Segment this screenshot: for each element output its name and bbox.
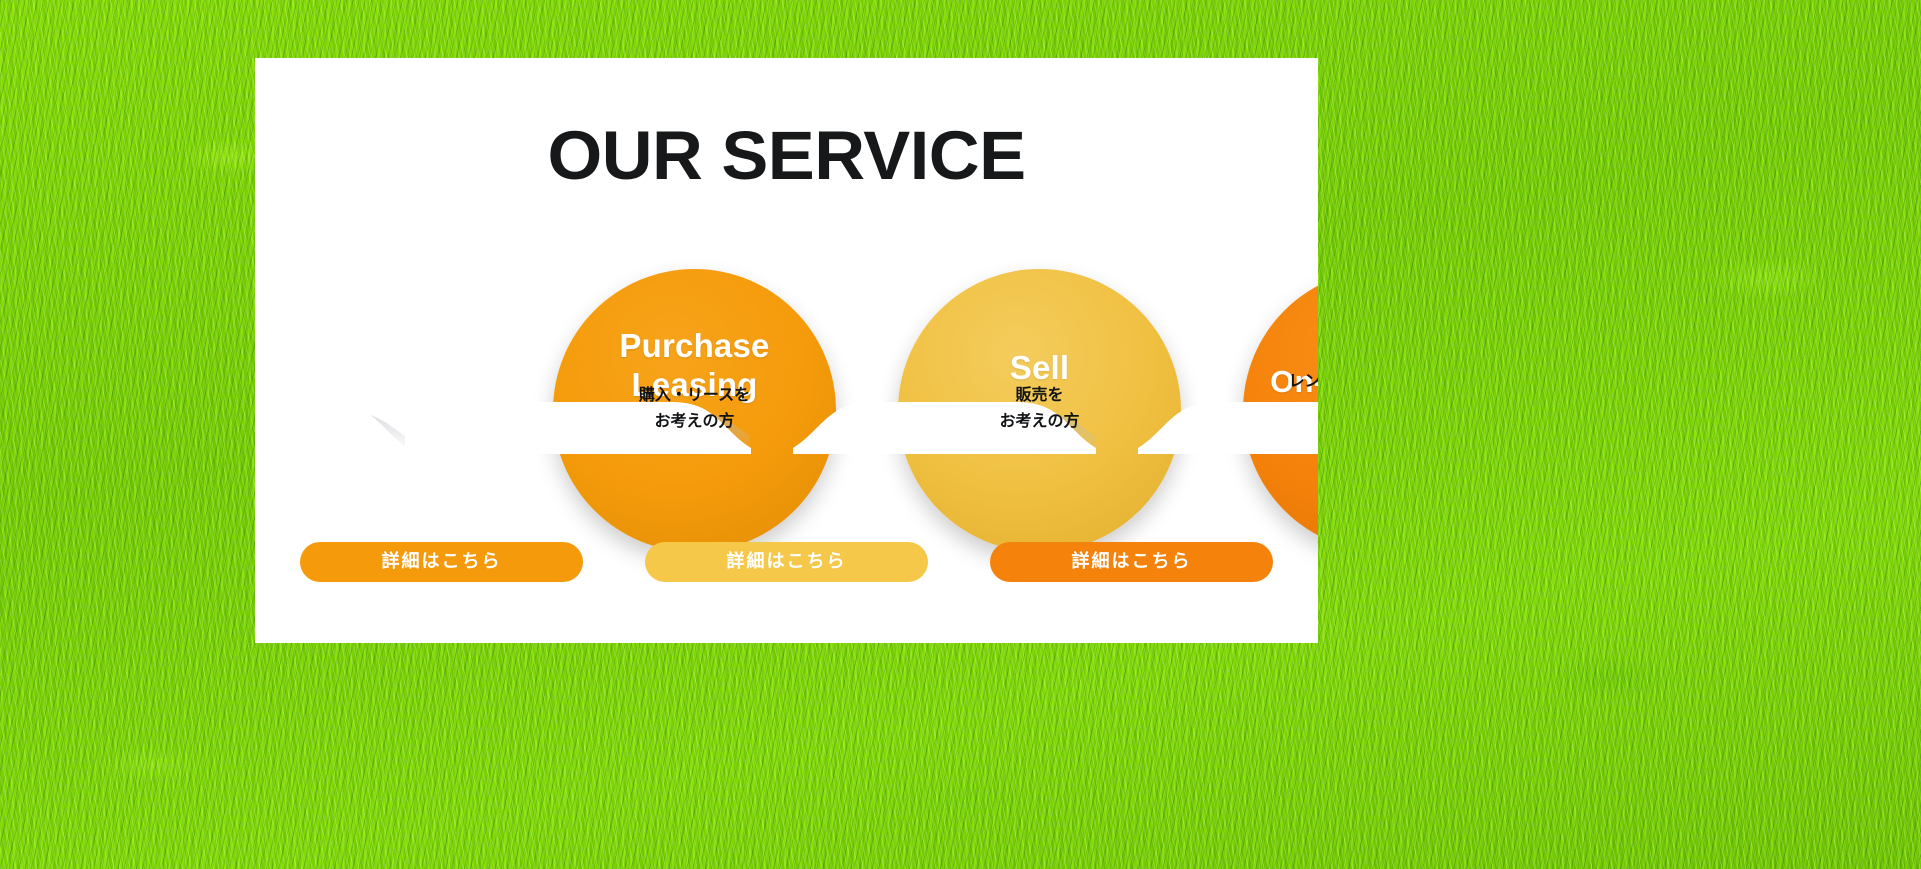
service-subtitle-line: ご利用を (1243, 394, 1318, 420)
detail-button-rental-onsite-service[interactable]: 詳細はこちら (990, 542, 1273, 582)
service-subtitle-line: お考えの方 (898, 408, 1181, 434)
service-subtitle-line: 販売を (898, 382, 1181, 408)
service-subtitle-line: 購入・リースを (553, 382, 836, 408)
detail-button-purchase-leasing[interactable]: 詳細はこちら (300, 542, 583, 582)
service-subtitle-line: お考えの方 (553, 408, 836, 434)
service-title-line: Sell (1010, 349, 1070, 386)
service-subtitle-rental-onsite-service: レンタル・出張サービスの ご利用を お考えの方 (1243, 368, 1318, 446)
service-card: OUR SERVICE Purchase (255, 58, 1318, 643)
page-title: OUR SERVICE (255, 116, 1318, 195)
service-subtitle-line: レンタル・出張サービスの (1243, 368, 1318, 394)
service-title-line: Purchase (619, 327, 769, 364)
service-subtitle-sell: 販売を お考えの方 (898, 382, 1181, 434)
service-subtitle-line: お考えの方 (1243, 420, 1318, 446)
service-subtitle-purchase-leasing: 購入・リースを お考えの方 (553, 382, 836, 434)
detail-button-sell[interactable]: 詳細はこちら (645, 542, 928, 582)
